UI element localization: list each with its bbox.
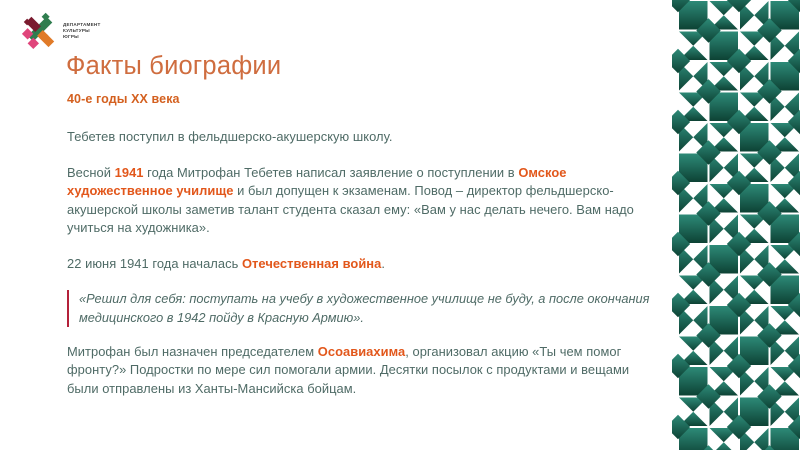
highlight-osoaviahim: Осоавиахима (318, 344, 405, 359)
quote-text: «Решил для себя: поступать на учебу в ху… (79, 291, 650, 324)
highlight-patriotic-war: Отечественная война (242, 256, 381, 271)
p4-segment-a: Митрофан был назначен председателем (67, 344, 318, 359)
p2-segment-a: Весной (67, 165, 115, 180)
paragraph-1-text: Тебетев поступил в фельдшерско-акушерску… (67, 129, 392, 144)
paragraph-3: 22 июня 1941 года началась Отечественная… (67, 255, 652, 274)
paragraph-2: Весной 1941 года Митрофан Тебетев написа… (67, 164, 652, 238)
slide-root: ДЕПАРТАМЕНТ КУЛЬТУРЫ ЮГРЫ Факты биографи… (0, 0, 800, 450)
p3-segment-a: 22 июня 1941 года началась (67, 256, 242, 271)
logo-line-3: ЮГРЫ (63, 34, 101, 40)
paragraph-4: Митрофан был назначен председателем Осоа… (67, 343, 652, 399)
geometric-ornament-decoration (672, 0, 800, 450)
highlight-year-1941: 1941 (115, 165, 144, 180)
logo: ДЕПАРТАМЕНТ КУЛЬТУРЫ ЮГРЫ (20, 12, 101, 50)
logo-wordmark: ДЕПАРТАМЕНТ КУЛЬТУРЫ ЮГРЫ (63, 22, 101, 40)
section-subtitle: 40-е годы XX века (67, 92, 652, 106)
content-body: 40-е годы XX века Тебетев поступил в фел… (67, 92, 652, 413)
quote-block: «Решил для себя: поступать на учебу в ху… (67, 290, 652, 326)
logo-mark-icon (20, 12, 58, 50)
p3-segment-b: . (381, 256, 385, 271)
page-title: Факты биографии (66, 52, 281, 81)
p2-segment-b: года Митрофан Тебетев написал заявление … (144, 165, 519, 180)
paragraph-1: Тебетев поступил в фельдшерско-акушерску… (67, 128, 652, 147)
